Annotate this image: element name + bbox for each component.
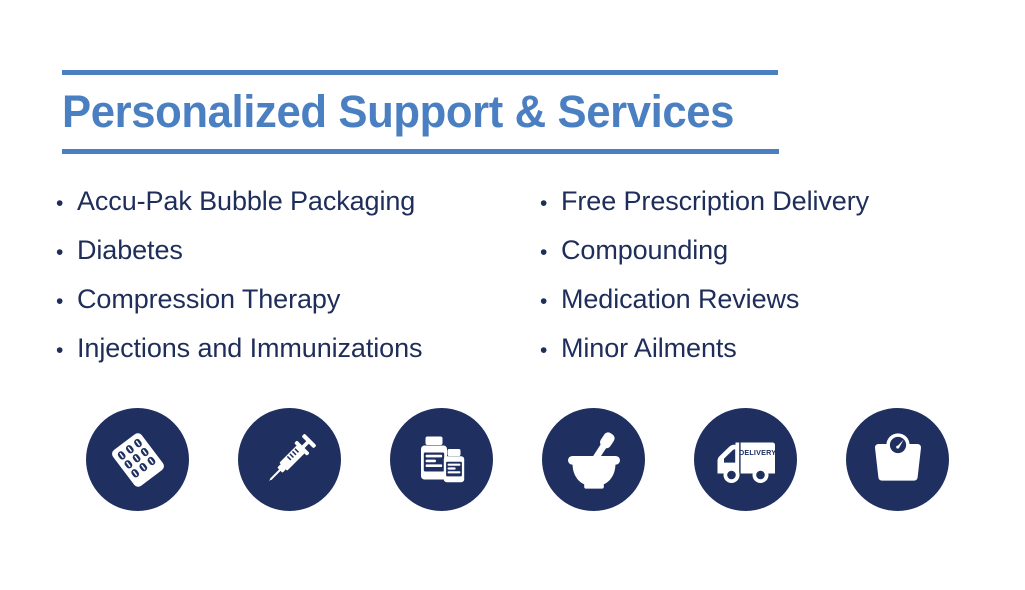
bullet-icon: • [56, 279, 77, 325]
service-label: Compounding [561, 227, 728, 273]
icon-circle-delivery-truck: DELIVERY [694, 408, 797, 511]
list-item: • Compounding [540, 227, 1010, 276]
truck-delivery-text: DELIVERY [738, 447, 775, 456]
weight-scale-icon [866, 428, 930, 492]
title-rule-top [62, 70, 778, 75]
icon-circle-blister-pack [86, 408, 189, 511]
service-label: Accu-Pak Bubble Packaging [77, 178, 415, 224]
slide-canvas: Personalized Support & Services • Accu-P… [0, 0, 1025, 590]
bullet-icon: • [540, 328, 561, 374]
bullet-icon: • [56, 230, 77, 276]
service-label: Minor Ailments [561, 325, 737, 371]
pill-bottles-icon [410, 428, 474, 492]
bullet-icon: • [56, 328, 77, 374]
icon-circle-mortar-pestle [542, 408, 645, 511]
icon-circle-syringe [238, 408, 341, 511]
bullet-icon: • [540, 230, 561, 276]
delivery-truck-icon: DELIVERY [712, 426, 780, 494]
bullet-icon: • [540, 279, 561, 325]
header-block: Personalized Support & Services [62, 70, 778, 154]
mortar-pestle-icon [561, 427, 627, 493]
services-lists: • Accu-Pak Bubble Packaging • Diabetes •… [0, 178, 1025, 374]
service-label: Medication Reviews [561, 276, 799, 322]
service-label: Injections and Immunizations [77, 325, 422, 371]
list-item: • Injections and Immunizations [56, 325, 526, 374]
service-label: Free Prescription Delivery [561, 178, 869, 224]
list-item: • Compression Therapy [56, 276, 526, 325]
list-item: • Diabetes [56, 227, 526, 276]
icon-circle-pill-bottles [390, 408, 493, 511]
title-rule-bottom [62, 149, 779, 154]
services-left-column: • Accu-Pak Bubble Packaging • Diabetes •… [56, 178, 526, 374]
service-icon-row: DELIVERY [86, 408, 949, 511]
list-item: • Medication Reviews [540, 276, 1010, 325]
service-label: Diabetes [77, 227, 183, 273]
services-right-column: • Free Prescription Delivery • Compoundi… [540, 178, 1010, 374]
icon-circle-weight-scale [846, 408, 949, 511]
blister-pack-icon [106, 428, 170, 492]
syringe-icon [258, 428, 322, 492]
service-label: Compression Therapy [77, 276, 340, 322]
list-item: • Accu-Pak Bubble Packaging [56, 178, 526, 227]
list-item: • Minor Ailments [540, 325, 1010, 374]
list-item: • Free Prescription Delivery [540, 178, 1010, 227]
bullet-icon: • [540, 181, 561, 227]
bullet-icon: • [56, 181, 77, 227]
page-title: Personalized Support & Services [62, 81, 757, 143]
